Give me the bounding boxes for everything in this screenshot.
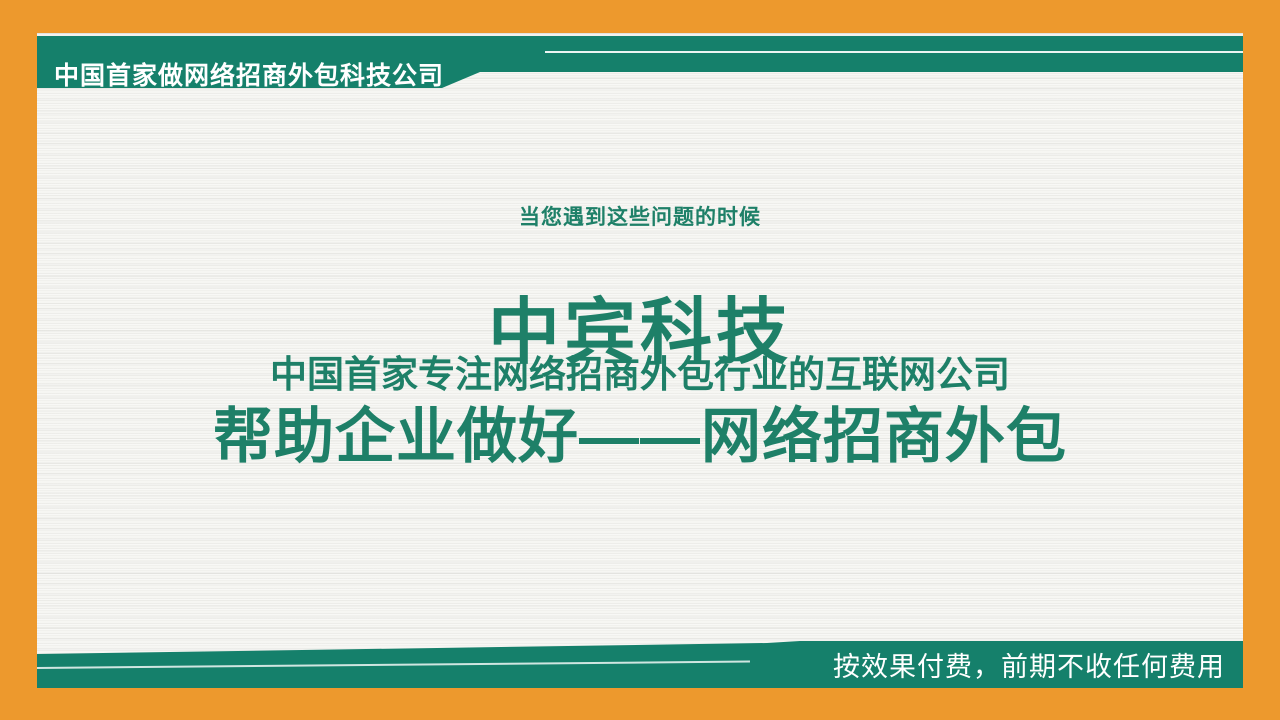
slide-canvas: 中国首家做网络招商外包科技公司 当您遇到这些问题的时候 中宾科技 中国首家专注网… xyxy=(0,0,1280,720)
headline-text: 帮助企业做好——网络招商外包 xyxy=(37,388,1243,475)
tagline-text: 中国首家专注网络招商外包行业的互联网公司 xyxy=(37,344,1243,398)
bottom-banner-label: 按效果付费，前期不收任何费用 xyxy=(833,645,1225,684)
kicker-text: 当您遇到这些问题的时候 xyxy=(37,201,1243,231)
bottom-banner: 按效果付费，前期不收任何费用 xyxy=(37,641,1243,688)
bottom-banner-label-wrap: 按效果付费，前期不收任何费用 xyxy=(833,641,1225,688)
slide-paper-panel: 中国首家做网络招商外包科技公司 当您遇到这些问题的时候 中宾科技 中国首家专注网… xyxy=(37,33,1243,688)
brand-title: 中宾科技 xyxy=(37,273,1243,378)
slide-content: 当您遇到这些问题的时候 中宾科技 中国首家专注网络招商外包行业的互联网公司 帮助… xyxy=(37,33,1243,688)
paper-texture-overlay xyxy=(37,33,1243,688)
top-banner-rule-line xyxy=(545,51,1243,53)
paper-texture-overlay-secondary xyxy=(37,33,1243,688)
top-banner-label: 中国首家做网络招商外包科技公司 xyxy=(54,56,484,92)
bottom-banner-rule-line xyxy=(37,661,750,669)
top-banner: 中国首家做网络招商外包科技公司 xyxy=(37,36,1243,88)
